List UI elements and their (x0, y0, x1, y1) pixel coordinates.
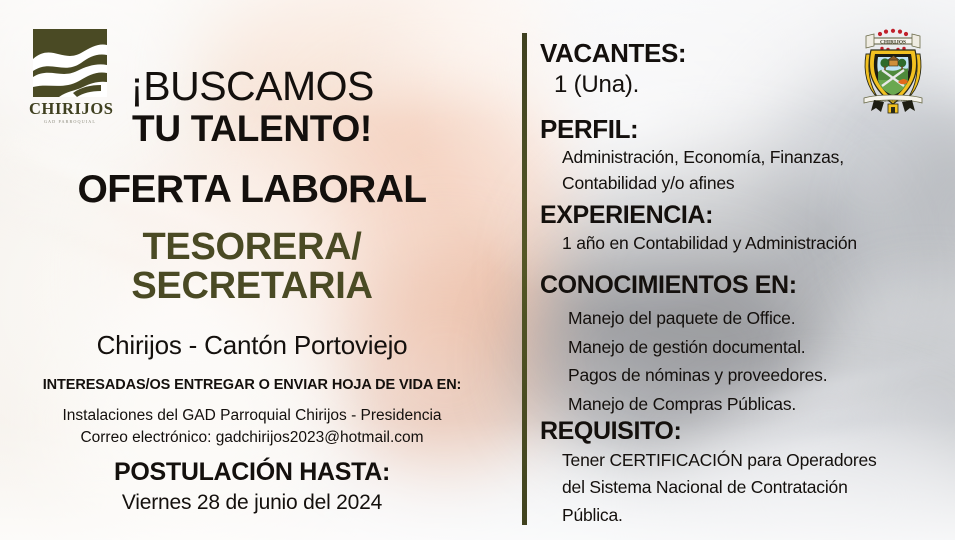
chirijos-coat-of-arms-icon: CHIRIJOS GOBIERNO PARROQUIAL (858, 24, 928, 116)
requisito-line-2: del Sistema Nacional de Contratación (562, 476, 940, 498)
position-line-1: TESORERA/ (0, 228, 504, 267)
list-item: Manejo del paquete de Office. (568, 304, 940, 333)
section-experiencia: EXPERIENCIA: 1 año en Contabilidad y Adm… (540, 202, 940, 254)
conocimientos-label: CONOCIMIENTOS EN: (540, 272, 940, 298)
delivery-email: Correo electrónico: gadchirijos2023@hotm… (0, 427, 504, 449)
position-line-2: SECRETARIA (0, 267, 504, 306)
section-perfil: PERFIL: Administración, Economía, Finanz… (540, 116, 940, 195)
list-item: Pagos de nóminas y proveedores. (568, 361, 940, 390)
instructions-label: INTERESADAS/OS ENTREGAR O ENVIAR HOJA DE… (0, 378, 504, 393)
requisito-label: REQUISITO: (540, 418, 940, 444)
delivery-address: Instalaciones del GAD Parroquial Chirijo… (0, 405, 504, 427)
requisito-line-3: Pública. (562, 504, 940, 526)
experiencia-label: EXPERIENCIA: (540, 202, 940, 228)
deadline-date: Viernes 28 de junio del 2024 (0, 492, 504, 513)
svg-text:CHIRIJOS: CHIRIJOS (880, 39, 906, 45)
deadline-label: POSTULACIÓN HASTA: (0, 460, 504, 485)
perfil-label: PERFIL: (540, 116, 940, 143)
list-item: Manejo de Compras Públicas. (568, 390, 940, 419)
list-item: Manejo de gestión documental. (568, 333, 940, 362)
chirijos-logo: CHIRIJOS GAD PARROQUIAL (29, 29, 111, 124)
logo-wordmark: CHIRIJOS (29, 101, 111, 118)
section-requisito: REQUISITO: Tener CERTIFICACIÓN para Oper… (540, 418, 940, 526)
chirijos-river-logo-icon (29, 29, 111, 99)
position-title: TESORERA/ SECRETARIA (0, 228, 504, 306)
delivery-details: Instalaciones del GAD Parroquial Chirijo… (0, 405, 504, 449)
perfil-line-2: Contabilidad y/o afines (562, 173, 940, 195)
location-label: Chirijos - Cantón Portoviejo (0, 332, 504, 358)
perfil-line-1: Administración, Economía, Finanzas, (562, 147, 940, 169)
section-conocimientos: CONOCIMIENTOS EN: Manejo del paquete de … (540, 272, 940, 418)
requisito-line-1: Tener CERTIFICACIÓN para Operadores (562, 449, 940, 471)
offer-title: OFERTA LABORAL (0, 170, 504, 209)
job-offer-poster: CHIRIJOS GAD PARROQUIAL CHIRIJOS (0, 0, 955, 540)
column-divider (522, 33, 527, 525)
logo-subtitle: GAD PARROQUIAL (29, 119, 111, 124)
conocimientos-list: Manejo del paquete de Office. Manejo de … (568, 304, 940, 418)
experiencia-value: 1 año en Contabilidad y Administración (562, 233, 940, 254)
